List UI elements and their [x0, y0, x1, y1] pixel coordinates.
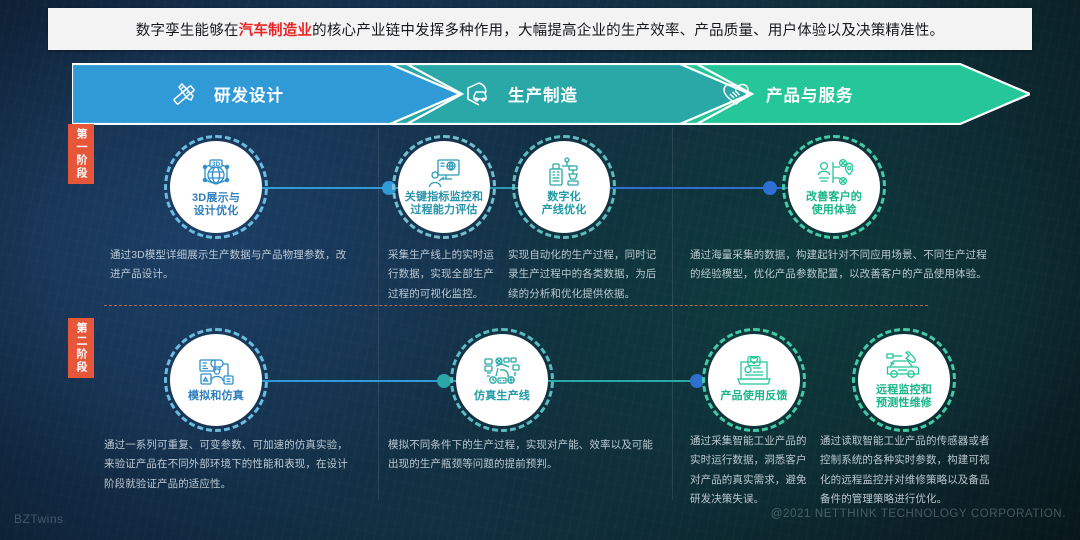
headline-suffix: 的核心产业链中发挥多种作用，大幅提高企业的生产效率、产品质量、用户体验以及决策精… [312, 23, 944, 39]
arrow-rd [72, 63, 462, 125]
connector-dot-r2-a [437, 374, 451, 388]
connector-r2-a [238, 380, 468, 382]
node-remote-monitor[interactable]: 远程监控和 预测性维修 [858, 334, 950, 426]
3d-globe-icon: 3D [198, 156, 234, 190]
node-simulation[interactable]: 模拟和仿真 [170, 334, 262, 426]
headline-banner: 数字孪生能够在汽车制造业的核心产业链中发挥多种作用，大幅提高企业的生产效率、产品… [48, 8, 1032, 50]
node-customer-exp[interactable]: 改善客户的 使用体验 [788, 141, 880, 233]
node-digital-line[interactable]: 数字化 产线优化 [518, 141, 610, 233]
footer-brand: BZTwins [14, 512, 64, 526]
node-virtual-line[interactable]: 仿真生产线 [456, 334, 548, 426]
svg-text:3D: 3D [212, 160, 221, 167]
node-title: 产品使用反馈 [720, 390, 787, 403]
desc-r1-3: 实现自动化的生产过程，同时记录生产过程中的各类数据，为后续的分析和优化提供依据。 [508, 246, 664, 304]
node-title: 关键指标监控和 过程能力评估 [405, 191, 483, 218]
user-location-icon [815, 157, 853, 189]
phase-arrows-svg [72, 63, 1030, 125]
desc-r2-3: 通过采集智能工业产品的实时运行数据，洞悉客户对产品的真实需求，避免研发决策失误。 [690, 432, 812, 510]
node-kpi-monitor[interactable]: 关键指标监控和 过程能力评估 [398, 141, 490, 233]
connector-dot-r1-b [763, 181, 777, 195]
robot-arm-data-icon [482, 356, 522, 388]
footer-copyright: @2021 NETTHINK TECHNOLOGY CORPORATION. [771, 508, 1066, 520]
stage-tag-two: 第二阶段 [68, 318, 94, 378]
slide-root: 数字孪生能够在汽车制造业的核心产业链中发挥多种作用，大幅提高企业的生产效率、产品… [0, 0, 1080, 540]
phase-separator [104, 305, 928, 306]
column-divider-2 [672, 128, 673, 500]
node-title: 3D展示与 设计优化 [192, 192, 240, 219]
node-title: 远程监控和 预测性维修 [876, 384, 932, 411]
simulation-vr-icon [197, 356, 235, 388]
desc-r2-4: 通过读取智能工业产品的传感器或者控制系统的各种实时参数，构建可视化的远程监控并对… [820, 432, 992, 510]
desc-r2-2: 模拟不同条件下的生产过程，实现对产能、效率以及可能出现的生产瓶颈等问题的提前预判… [388, 436, 656, 475]
desc-r2-1: 通过一系列可重复、可变参数、可加速的仿真实验，来验证产品在不同外部环境下的性能和… [104, 436, 358, 494]
car-wrench-icon [884, 350, 924, 382]
column-divider-1 [378, 128, 379, 500]
factory-robot-icon [546, 157, 582, 189]
node-title: 改善客户的 使用体验 [806, 191, 862, 218]
monitor-person-icon [426, 157, 462, 189]
node-usage-feedback[interactable]: 产品使用反馈 [708, 334, 800, 426]
node-title: 数字化 产线优化 [542, 191, 587, 218]
headline-highlight: 汽车制造业 [239, 23, 313, 39]
phase-arrow-bar: 研发设计 生产制造 产品与服务 [72, 63, 1030, 125]
desc-r1-2: 采集生产线上的实时运行数据，实现全部生产过程的可视化监控。 [388, 246, 496, 304]
headline-prefix: 数字孪生能够在 [136, 23, 239, 39]
stage-tag-one: 第一阶段 [68, 124, 94, 184]
node-title: 模拟和仿真 [188, 390, 244, 403]
headline-text: 数字孪生能够在汽车制造业的核心产业链中发挥多种作用，大幅提高企业的生产效率、产品… [136, 19, 945, 40]
desc-r1-4: 通过海量采集的数据，构建起针对不同应用场景、不同生产过程的经验模型，优化产品参数… [690, 246, 990, 285]
node-title: 仿真生产线 [474, 390, 530, 403]
laptop-heart-icon [735, 356, 773, 388]
desc-r1-1: 通过3D模型详细展示生产数据与产品物理参数，改进产品设计。 [110, 246, 354, 285]
node-3d-display[interactable]: 3D 3D展示与 设计优化 [170, 141, 262, 233]
